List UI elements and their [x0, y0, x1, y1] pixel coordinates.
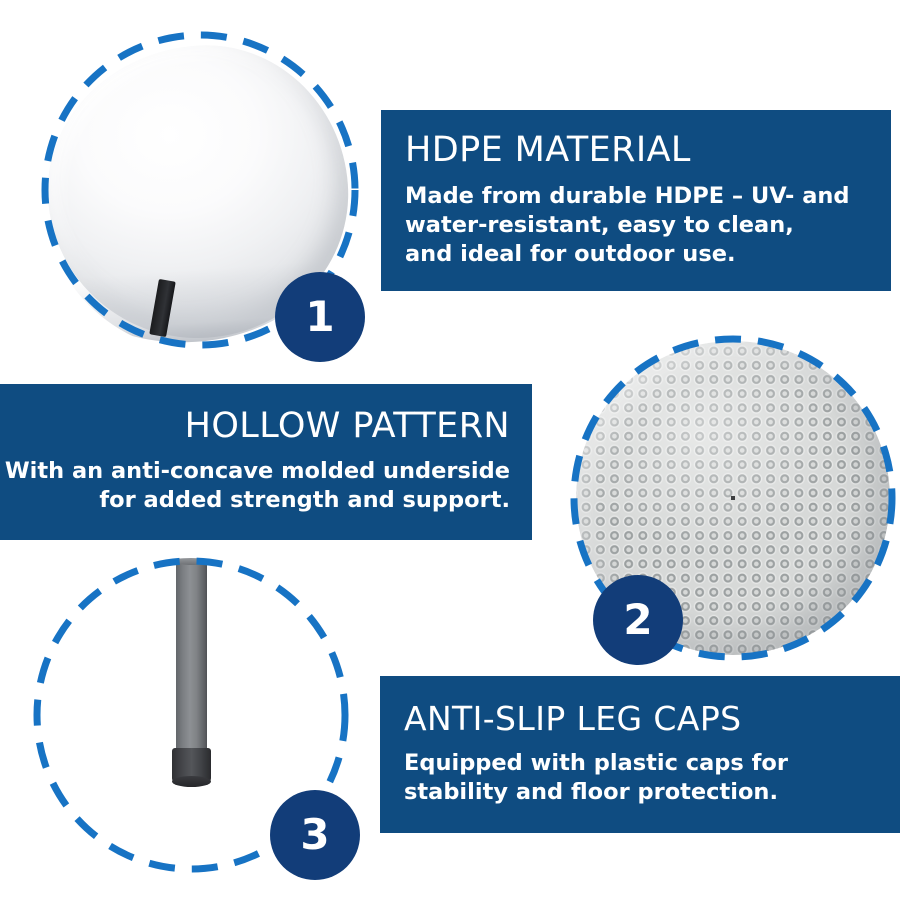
- feature-1-body-line: water-resistant, easy to clean,: [405, 211, 850, 240]
- anti-slip-leg-cap-base: [172, 776, 211, 787]
- feature-2-body: With an anti-concave molded underside fo…: [5, 457, 510, 516]
- feature-3-body: Equipped with plastic caps for stability…: [404, 749, 788, 808]
- step-badge-1: 1: [275, 272, 365, 362]
- feature-2-body-line: With an anti-concave molded underside: [5, 457, 510, 486]
- step-badge-2: 2: [593, 575, 683, 665]
- feature-1-title: HDPE MATERIAL: [405, 132, 691, 169]
- feature-1-body-line: and ideal for outdoor use.: [405, 240, 850, 269]
- feature-1-body-line: Made from durable HDPE – UV- and: [405, 182, 850, 211]
- feature-panel-anti-slip-leg-caps: ANTI-SLIP LEG CAPS Equipped with plastic…: [380, 676, 900, 833]
- dimple-center-mark: [731, 496, 735, 500]
- feature-panel-hdpe-material: HDPE MATERIAL Made from durable HDPE – U…: [381, 110, 891, 291]
- feature-2-body-line: for added strength and support.: [5, 486, 510, 515]
- feature-1-body: Made from durable HDPE – UV- and water-r…: [405, 182, 850, 270]
- step-badge-3: 3: [270, 790, 360, 880]
- feature-2-title: HOLLOW PATTERN: [185, 408, 510, 445]
- feature-infographic: HDPE MATERIAL Made from durable HDPE – U…: [0, 0, 900, 900]
- feature-panel-hollow-pattern: HOLLOW PATTERN With an anti-concave mold…: [0, 384, 532, 540]
- table-leg-tube: [176, 560, 207, 756]
- feature-3-body-line: Equipped with plastic caps for: [404, 749, 788, 778]
- feature-3-title: ANTI-SLIP LEG CAPS: [404, 702, 741, 737]
- feature-3-body-line: stability and floor protection.: [404, 778, 788, 807]
